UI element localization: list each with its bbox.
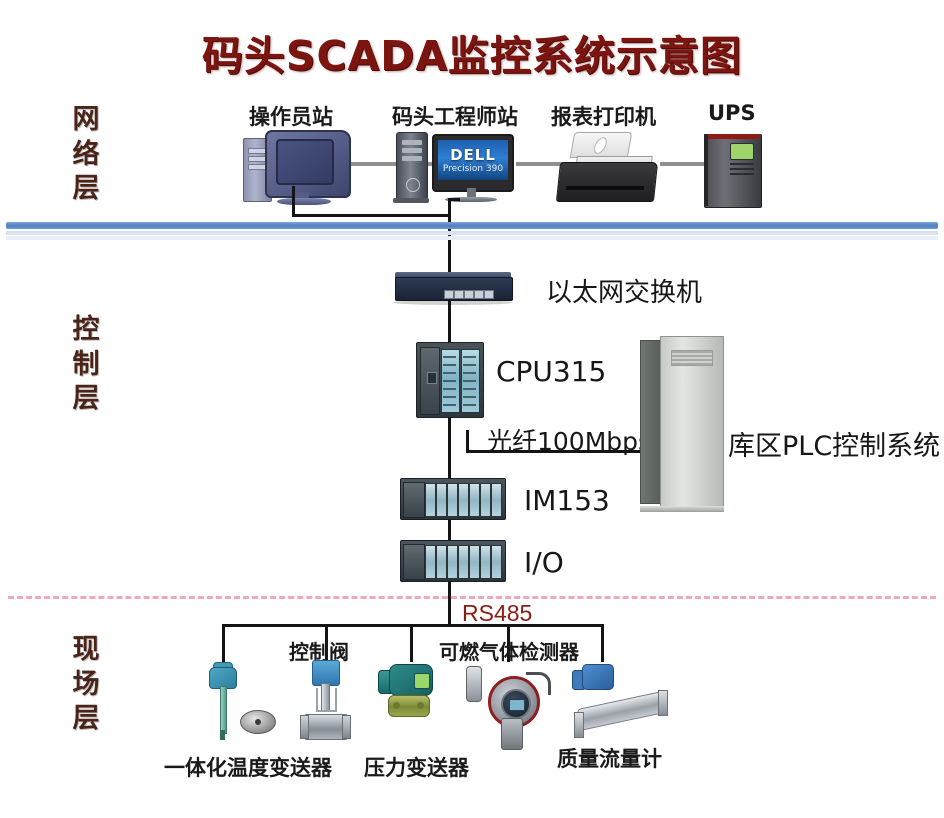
wire-cpu-to-im153 (448, 418, 451, 480)
engineer-station-monitor[interactable]: DELL Precision 390 (432, 134, 516, 210)
dell-tower-chassis (396, 132, 428, 200)
printer-paper-slot (566, 186, 644, 190)
label-io: I/O (524, 546, 564, 579)
temperature-transmitter[interactable] (196, 662, 306, 738)
plc-cpu315[interactable] (414, 340, 486, 420)
printer-body (556, 162, 658, 202)
valve-flange-right (342, 715, 351, 739)
layer-label-control: 控 制 层 (60, 313, 112, 417)
dell-monitor-screen: DELL Precision 390 (438, 140, 508, 180)
wire-io-to-fieldbus (448, 582, 451, 626)
dell-monitor-frame: DELL Precision 390 (432, 134, 514, 192)
im153-interface-module (403, 482, 425, 518)
operator-crt-base (277, 198, 331, 205)
ups-vent-3 (730, 173, 754, 175)
ethernet-switch[interactable] (392, 272, 518, 308)
wire-operator-run (292, 214, 450, 217)
ups-cabinet[interactable] (700, 130, 766, 210)
wire-engineer-tap (448, 198, 460, 201)
layer-label-network: 网 络 层 (60, 103, 112, 207)
im153-body (400, 478, 506, 520)
ups-left-edge (704, 134, 708, 206)
label-temperature-transmitter: 一体化温度变送器 (164, 752, 332, 782)
page-title: 码头SCADA监控系统示意图 (0, 22, 944, 82)
wire-fiber-riser (466, 430, 469, 452)
cpu315-module-1 (441, 349, 460, 413)
operator-crt-monitor (265, 130, 351, 198)
layer-control-char-1: 控 (60, 313, 112, 348)
fieldbus-trunk (222, 624, 604, 627)
ups-display (730, 143, 754, 160)
engineer-station-tower[interactable] (392, 132, 436, 212)
mass-flow-meter[interactable] (570, 662, 690, 742)
control-valve[interactable] (300, 660, 370, 744)
pressure-transmitter-display (414, 673, 430, 689)
layer-network-char-3: 层 (60, 172, 112, 207)
ups-vent-2 (730, 168, 754, 170)
layer-label-field: 现 场 层 (60, 633, 112, 737)
bus-band-secondary (6, 231, 938, 235)
label-pressure-transmitter: 压力变送器 (364, 752, 469, 782)
dell-badge-icon (406, 178, 420, 192)
label-engineer-station: 码头工程师站 (392, 101, 518, 131)
plc-cabinet[interactable] (640, 336, 740, 526)
label-cpu315: CPU315 (496, 355, 606, 388)
label-ups: UPS (708, 101, 756, 125)
flow-meter-tube (577, 691, 666, 730)
cpu315-status-led (427, 372, 437, 384)
temp-transmitter-flange (240, 710, 276, 734)
label-gas-detector: 可燃气体检测器 (439, 636, 579, 665)
operator-station[interactable] (243, 128, 358, 208)
cpu315-processor-module (420, 347, 440, 415)
io-interface-module (403, 544, 425, 580)
label-ethernet-switch: 以太网交换机 (546, 272, 702, 309)
gas-detector-face (501, 689, 531, 719)
temp-transmitter-tip (220, 730, 225, 740)
dell-model-text: Precision 390 (438, 164, 508, 174)
operator-crt-screen (276, 139, 334, 185)
gas-detector-sensor-probe (466, 666, 482, 702)
layer-field-char-3: 层 (60, 702, 112, 737)
wire-switch-to-cpu (448, 302, 451, 344)
field-layer-divider (8, 596, 936, 599)
layer-field-char-2: 场 (60, 668, 112, 703)
valve-flange-left (300, 715, 309, 739)
label-plc-cabinet: 库区PLC控制系统 (728, 424, 940, 463)
flow-meter-head (582, 664, 614, 690)
report-printer[interactable] (552, 130, 667, 202)
cabinet-vent-grille (671, 350, 713, 366)
gas-detector[interactable] (466, 662, 561, 750)
dell-logo-text: DELL (438, 146, 508, 164)
bus-band-tertiary (6, 236, 938, 240)
ups-vent-1 (730, 163, 754, 165)
printer-paper-tray-upright (570, 132, 633, 158)
fieldbus-branch-pressure (410, 624, 413, 662)
network-backbone-bus (6, 222, 938, 242)
pressure-transmitter-body (388, 695, 430, 717)
label-im153: IM153 (524, 484, 610, 517)
im153-rack[interactable] (398, 476, 508, 522)
temp-transmitter-probe (220, 686, 227, 734)
label-fiber-100mbps: 光纤100Mbps (487, 422, 651, 458)
dell-tower-foot (393, 198, 429, 203)
layer-network-char-2: 络 (60, 138, 112, 173)
valve-yoke (316, 688, 337, 712)
printer-tray-hole (591, 136, 609, 156)
io-body (400, 540, 506, 582)
gas-detector-body (501, 718, 523, 750)
cabinet-base (640, 506, 724, 512)
layer-network-char-1: 网 (60, 103, 112, 138)
bus-band-primary (6, 222, 938, 229)
flow-meter-flange-right (658, 690, 668, 716)
cpu315-module-2 (461, 349, 480, 413)
label-operator-station: 操作员站 (249, 101, 333, 131)
layer-control-char-2: 制 (60, 348, 112, 383)
label-rs485: RS485 (462, 600, 532, 627)
io-rack[interactable] (398, 538, 508, 584)
layer-field-char-1: 现 (60, 633, 112, 668)
label-mass-flow-meter: 质量流量计 (557, 743, 662, 773)
gas-detector-screen (509, 699, 525, 711)
fieldbus-branch-flow (601, 624, 604, 662)
cpu315-body (416, 342, 484, 418)
wire-operator-drop (292, 186, 295, 216)
pressure-transmitter[interactable] (378, 662, 458, 742)
layer-control-char-3: 层 (60, 382, 112, 417)
flow-meter-flange-left (574, 712, 584, 738)
label-report-printer: 报表打印机 (551, 101, 656, 131)
ups-top-strip (704, 134, 760, 139)
switch-shadow (393, 300, 513, 305)
pressure-transmitter-head (389, 664, 433, 696)
fieldbus-branch-temp (222, 624, 225, 662)
